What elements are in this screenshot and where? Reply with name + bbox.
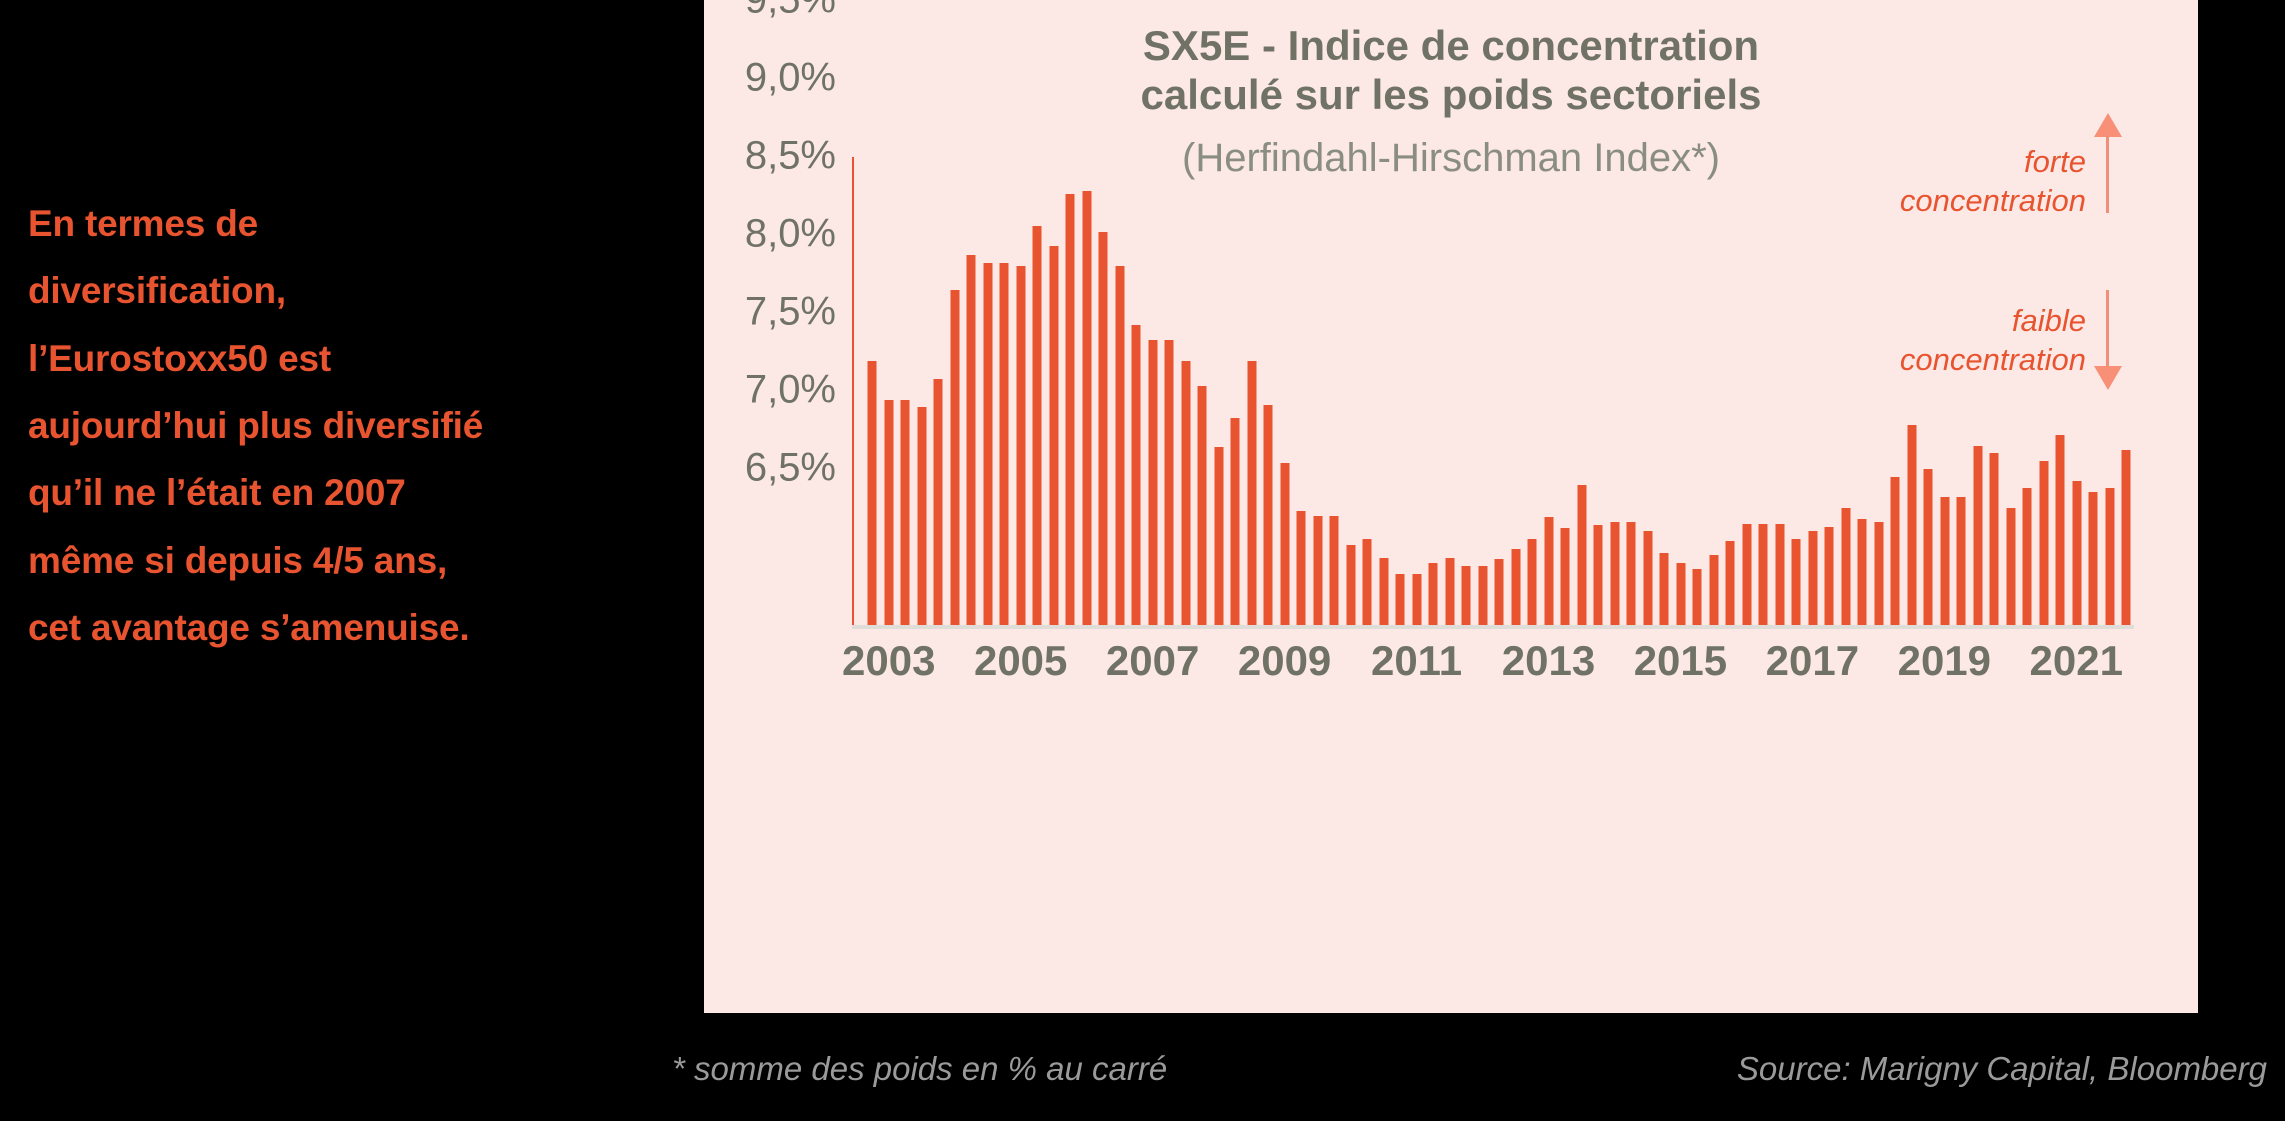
bar-fill (1478, 566, 1487, 625)
commentary-text: En termes de diversification, l’Eurostox… (28, 190, 668, 661)
bar-fill (1858, 519, 1867, 625)
bar-fill (1841, 508, 1850, 625)
bar-fill (1033, 226, 1042, 625)
annotation-low-concentration: faible concentration (1826, 302, 2086, 380)
bar (1772, 157, 1789, 625)
bar-fill (1379, 558, 1388, 625)
bar (1178, 157, 1195, 625)
bar (1211, 157, 1228, 625)
bar (980, 157, 997, 625)
bar-fill (1940, 497, 1949, 625)
bar-fill (2023, 488, 2032, 625)
bar-fill (1924, 469, 1933, 625)
bar (1574, 157, 1591, 625)
chart-panel: SX5E - Indice de concentration calculé s… (704, 0, 2198, 1013)
y-axis-tick-label: 7,5% (745, 290, 836, 335)
y-axis-tick-label: 7,0% (745, 368, 836, 413)
bar (1838, 157, 1855, 625)
chart-title-line-1: SX5E - Indice de concentration (704, 22, 2198, 71)
bar (1541, 157, 1558, 625)
commentary-line: aujourd’hui plus diversifié (28, 392, 668, 459)
bar-fill (1066, 194, 1075, 625)
bar-fill (1165, 340, 1174, 625)
bar (1260, 157, 1277, 625)
bar-fill (2105, 488, 2114, 625)
bar (1326, 157, 1343, 625)
y-axis-line (852, 157, 854, 625)
x-axis-tick-label: 2017 (1766, 637, 1859, 685)
commentary-line: même si depuis 4/5 ans, (28, 527, 668, 594)
annotation-high-line-2: concentration (1826, 182, 2086, 221)
bar (2052, 157, 2069, 625)
x-axis-baseline (852, 625, 2134, 629)
bar (1887, 157, 1904, 625)
bar (1425, 157, 1442, 625)
bar (1013, 157, 1030, 625)
bar-fill (1214, 447, 1223, 625)
bar-fill (1363, 539, 1372, 625)
slide-root: En termes de diversification, l’Eurostox… (0, 0, 2285, 1121)
bar (1788, 157, 1805, 625)
bar (1689, 157, 1706, 625)
bar-fill (2056, 435, 2065, 625)
bar (1937, 157, 1954, 625)
bar-fill (1643, 531, 1652, 625)
bar (1953, 157, 1970, 625)
chart-title-line-2: calculé sur les poids sectoriels (704, 71, 2198, 120)
bar (1442, 157, 1459, 625)
bar-fill (1297, 511, 1306, 625)
bar-fill (901, 400, 910, 625)
bar (1491, 157, 1508, 625)
x-axis-tick-label: 2005 (974, 637, 1067, 685)
bar (1392, 157, 1409, 625)
bar-fill (1462, 566, 1471, 625)
arrow-down-icon (2092, 290, 2122, 390)
bar (1986, 157, 2003, 625)
bar (1590, 157, 1607, 625)
bar (1194, 157, 1211, 625)
bar-fill (1280, 463, 1289, 625)
x-axis-tick-label: 2015 (1634, 637, 1727, 685)
bar-fill (1627, 522, 1636, 625)
bar (2019, 157, 2036, 625)
bar-fill (1693, 569, 1702, 625)
bar (2118, 157, 2135, 625)
y-axis-tick-label: 8,0% (745, 212, 836, 257)
bar-fill (2122, 450, 2131, 625)
bar (1722, 157, 1739, 625)
x-axis-tick-label: 2021 (2030, 637, 2123, 685)
bar (1062, 157, 1079, 625)
bar-fill (1544, 517, 1553, 625)
footnote: * somme des poids en % au carré (672, 1050, 1167, 1088)
source-label: Source: Marigny Capital, Bloomberg (1737, 1050, 2267, 1088)
bar (1128, 157, 1145, 625)
bar (1227, 157, 1244, 625)
bar-fill (1148, 340, 1157, 625)
bar (1409, 157, 1426, 625)
bar (1904, 157, 1921, 625)
bar-fill (1429, 563, 1438, 625)
bar (996, 157, 1013, 625)
bar-fill (1511, 549, 1520, 625)
bar-fill (934, 379, 943, 625)
y-axis-tick-label: 8,5% (745, 134, 836, 179)
y-axis-labels: 9,5%9,0%8,5%8,0%7,5%7,0%6,5% (704, 0, 852, 468)
arrow-up-icon (2092, 113, 2122, 213)
bar-fill (1808, 531, 1817, 625)
bar-fill (1594, 525, 1603, 625)
bar-fill (1346, 545, 1355, 625)
y-axis-tick-label: 6,5% (745, 446, 836, 491)
bar (1046, 157, 1063, 625)
bar (947, 157, 964, 625)
bar (1293, 157, 1310, 625)
bar (1640, 157, 1657, 625)
bar (1706, 157, 1723, 625)
bar (1277, 157, 1294, 625)
bar-fill (1198, 386, 1207, 625)
bar (1145, 157, 1162, 625)
bar-fill (1099, 232, 1108, 625)
bar (930, 157, 947, 625)
bar (1920, 157, 1937, 625)
y-axis-tick-label: 9,5% (745, 0, 836, 23)
bar (1376, 157, 1393, 625)
bar-fill (1412, 574, 1421, 625)
bar-fill (1049, 246, 1058, 625)
bar (1029, 157, 1046, 625)
annotation-high-concentration: forte concentration (1826, 143, 2086, 221)
bar-fill (1445, 558, 1454, 625)
bar-fill (1775, 524, 1784, 625)
bar (897, 157, 914, 625)
bar-fill (1792, 539, 1801, 625)
bar (2102, 157, 2119, 625)
bar (1310, 157, 1327, 625)
bar (1359, 157, 1376, 625)
bar-fill (2072, 481, 2081, 625)
bar (1112, 157, 1129, 625)
bar (881, 157, 898, 625)
bar-fill (1742, 524, 1751, 625)
bar (1673, 157, 1690, 625)
chart-title: SX5E - Indice de concentration calculé s… (704, 22, 2198, 119)
x-axis-tick-label: 2009 (1238, 637, 1331, 685)
bar-fill (1874, 522, 1883, 625)
bar (1508, 157, 1525, 625)
bar (1656, 157, 1673, 625)
annotation-low-line-1: faible (1826, 302, 2086, 341)
x-axis-labels: 2003200520072009201120132015201720192021 (852, 637, 2134, 697)
bar-fill (884, 400, 893, 625)
x-axis-tick-label: 2007 (1106, 637, 1199, 685)
bar (963, 157, 980, 625)
bar-fill (1973, 446, 1982, 625)
bar-fill (1313, 516, 1322, 625)
bar-fill (2039, 461, 2048, 625)
bar-fill (1907, 425, 1916, 625)
bar-fill (2089, 492, 2098, 625)
bar-series (864, 157, 2134, 625)
x-axis-tick-label: 2003 (842, 637, 935, 685)
bar-fill (1000, 263, 1009, 625)
annotation-high-line-1: forte (1826, 143, 2086, 182)
commentary-line: cet avantage s’amenuise. (28, 594, 668, 661)
bar-fill (1709, 555, 1718, 625)
x-axis-tick-label: 2013 (1502, 637, 1595, 685)
bar-fill (1825, 527, 1834, 625)
bar (1557, 157, 1574, 625)
bar (914, 157, 931, 625)
bar-fill (1396, 574, 1405, 625)
bar (2003, 157, 2020, 625)
bar-fill (1016, 266, 1025, 625)
bar (2036, 157, 2053, 625)
bar-fill (917, 407, 926, 625)
bar (1805, 157, 1822, 625)
commentary-line: l’Eurostoxx50 est (28, 325, 668, 392)
bar-fill (1891, 477, 1900, 625)
bar (1755, 157, 1772, 625)
bar-fill (1231, 418, 1240, 625)
bar-fill (1330, 516, 1339, 625)
annotation-low-line-2: concentration (1826, 341, 2086, 380)
bar (2085, 157, 2102, 625)
bar-fill (1495, 559, 1504, 625)
bar-fill (1676, 563, 1685, 625)
bar-fill (2006, 508, 2015, 625)
bar (1871, 157, 1888, 625)
bar (2069, 157, 2086, 625)
bar-fill (967, 255, 976, 625)
bar-fill (950, 290, 959, 625)
bar-fill (1115, 266, 1124, 625)
bar-fill (1247, 361, 1256, 625)
bar-fill (1181, 361, 1190, 625)
bar (1970, 157, 1987, 625)
bar (1458, 157, 1475, 625)
bar (1161, 157, 1178, 625)
plot-area (852, 157, 2134, 625)
bar (1244, 157, 1261, 625)
y-axis-tick-label: 9,0% (745, 56, 836, 101)
bar (1475, 157, 1492, 625)
bar-fill (1264, 405, 1273, 625)
bar (1854, 157, 1871, 625)
bar (1623, 157, 1640, 625)
bar-fill (1528, 539, 1537, 625)
bar-fill (868, 361, 877, 625)
bar-fill (1660, 553, 1669, 625)
commentary-line: qu’il ne l’était en 2007 (28, 459, 668, 526)
bar (864, 157, 881, 625)
bar-fill (1132, 325, 1141, 625)
bar (1079, 157, 1096, 625)
bar-fill (1561, 528, 1570, 625)
bar-fill (1610, 522, 1619, 625)
bar (1343, 157, 1360, 625)
bar-fill (1957, 497, 1966, 625)
bar (1524, 157, 1541, 625)
bar (1739, 157, 1756, 625)
commentary-line: diversification, (28, 257, 668, 324)
bar-fill (983, 263, 992, 625)
bar (1607, 157, 1624, 625)
bar-fill (1577, 485, 1586, 625)
x-axis-tick-label: 2011 (1371, 637, 1462, 685)
x-axis-tick-label: 2019 (1898, 637, 1991, 685)
bar-fill (1726, 541, 1735, 625)
commentary-line: En termes de (28, 190, 668, 257)
bar-fill (1990, 453, 1999, 625)
bar-fill (1082, 191, 1091, 625)
bar-fill (1759, 524, 1768, 625)
bar (1821, 157, 1838, 625)
bar (1095, 157, 1112, 625)
